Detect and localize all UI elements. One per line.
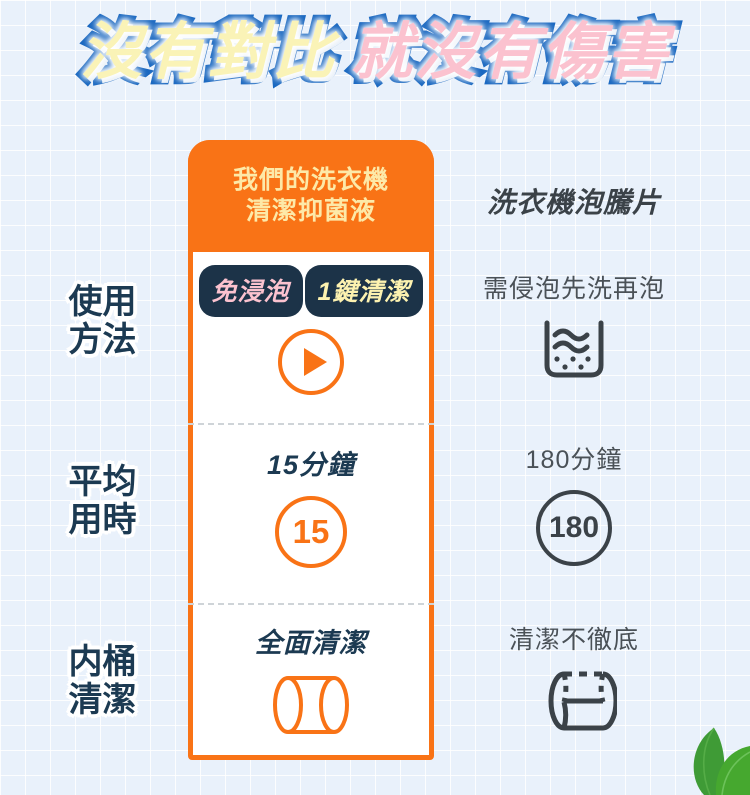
usage-badges: 免浸泡 1鍵清潔 [188,268,434,314]
row-label-average-time: 平均 用時 [20,463,185,539]
leaf-icon [640,700,750,795]
ours-clean-text: 全面清潔 [188,621,434,660]
other-column-header-wrap: 洗衣機泡騰片 [434,154,714,247]
ours-column: 我們的洗衣機 清潔抑菌液 免浸泡 1鍵清潔 [188,140,434,760]
other-usage-text: 需侵泡先洗再泡 [434,269,714,305]
other-column-header: 洗衣機泡騰片 [487,181,661,221]
ours-cell-usage: 免浸泡 1鍵清潔 [188,252,434,423]
other-cell-average-time: 180分鐘 180 [434,418,714,598]
badge-no-soak: 免浸泡 [202,268,300,314]
orange-drum-icon [188,672,434,738]
title-part-1: 沒有對比 [80,22,336,84]
other-column: 洗衣機泡騰片 需侵泡先洗再泡 [434,140,714,760]
infographic-page: 沒有對比就沒有傷害 使用 方法 平均 用時 内桶 清潔 我們的洗衣機 清潔抑菌液… [0,0,750,795]
page-title: 沒有對比就沒有傷害 [0,22,750,84]
other-time-text: 180分鐘 [434,440,714,476]
row-label-usage: 使用 方法 [20,283,185,359]
row-label-drum-cleaning: 内桶 清潔 [20,643,185,719]
orange-number-circle-icon: 15 [275,496,347,568]
play-circle-icon [188,326,434,398]
gray-number-circle-icon: 180 [536,490,612,566]
ours-time-text: 15分鐘 [188,443,434,482]
row-label-column: 使用 方法 平均 用時 内桶 清潔 [20,140,185,765]
ours-card: 我們的洗衣機 清潔抑菌液 免浸泡 1鍵清潔 [188,140,434,760]
other-cell-usage: 需侵泡先洗再泡 [434,247,714,418]
ours-column-header: 我們的洗衣機 清潔抑菌液 [188,140,434,252]
badge-one-key-clean: 1鍵清潔 [308,268,421,314]
ours-cell-average-time: 15分鐘 15 [188,423,434,603]
title-part-2: 就沒有傷害 [350,22,670,84]
other-clean-text: 清潔不徹底 [434,620,714,656]
soak-basin-icon [434,317,714,383]
ours-cell-drum-cleaning: 全面清潔 [188,603,434,760]
comparison-table: 使用 方法 平均 用時 内桶 清潔 我們的洗衣機 清潔抑菌液 免浸泡 1鍵清潔 [0,140,750,765]
